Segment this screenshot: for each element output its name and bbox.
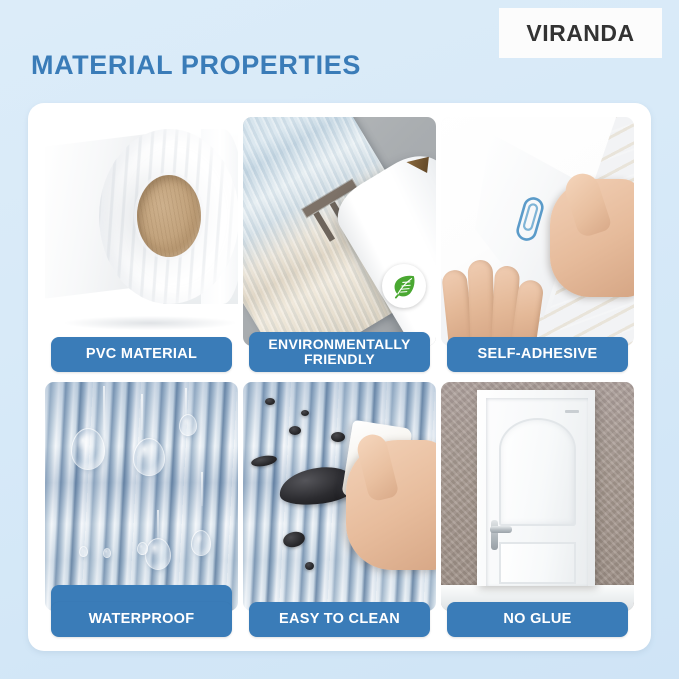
easy-to-clean-image <box>243 382 436 611</box>
stain-2 <box>301 410 309 416</box>
features-grid: PVC MATERIAL <box>45 117 634 637</box>
feature-card-waterproof[interactable]: WATERPROOF <box>45 382 238 637</box>
stain-3 <box>289 426 301 435</box>
no-glue-image <box>441 382 634 611</box>
green-leaf-icon <box>382 264 426 308</box>
page-title: MATERIAL PROPERTIES <box>31 50 361 81</box>
water-streak-2 <box>141 394 143 430</box>
water-drop-1 <box>71 428 105 470</box>
door-handle <box>490 526 512 533</box>
water-streak-1 <box>103 386 105 430</box>
water-drop-4 <box>145 538 171 570</box>
water-drop-5 <box>191 530 211 556</box>
waterproof-label-text: WATERPROOF <box>89 612 195 627</box>
feature-card-self-adhesive[interactable]: SELF-ADHESIVE <box>441 117 634 372</box>
feature-card-environmentally-friendly[interactable]: ENVIRONMENTALLY FRIENDLY <box>243 117 436 372</box>
feature-card-no-glue[interactable]: NO GLUE <box>441 382 634 637</box>
stain-6 <box>305 562 314 570</box>
stain-4 <box>331 432 345 442</box>
left-hand <box>443 240 539 346</box>
stain-1 <box>265 398 275 405</box>
environmentally-friendly-image <box>243 117 436 346</box>
feature-card-pvc-material[interactable]: PVC MATERIAL <box>45 117 238 372</box>
pvc-material-label-text: PVC MATERIAL <box>86 347 197 362</box>
brand-name: VIRANDA <box>526 20 634 47</box>
water-streak-4 <box>201 472 203 506</box>
door-upper-panel <box>499 418 576 526</box>
door-frame <box>477 390 595 586</box>
waterproof-label: WATERPROOF <box>51 602 232 637</box>
environmentally-friendly-label-text: ENVIRONMENTALLY FRIENDLY <box>268 337 410 366</box>
door-lock-plate <box>491 520 498 550</box>
water-drop-6 <box>79 546 88 557</box>
water-streak-5 <box>157 510 159 540</box>
waterproof-image <box>45 382 238 611</box>
easy-to-clean-label: EASY TO CLEAN <box>249 602 430 637</box>
features-panel: PVC MATERIAL <box>28 103 651 651</box>
environmentally-friendly-label: ENVIRONMENTALLY FRIENDLY <box>249 332 430 372</box>
door-lower-panel <box>499 542 576 584</box>
pvc-roll-illustration <box>45 117 238 346</box>
header: MATERIAL PROPERTIES VIRANDA <box>0 0 679 103</box>
door-leaf <box>486 398 588 586</box>
water-drop-3 <box>179 414 197 436</box>
self-adhesive-label-text: SELF-ADHESIVE <box>478 347 598 362</box>
pvc-cardboard-core <box>137 175 201 257</box>
pier-post-left <box>314 211 336 242</box>
water-drop-7 <box>103 548 111 558</box>
door-illustration <box>441 382 634 611</box>
no-glue-label-text: NO GLUE <box>503 612 571 627</box>
self-adhesive-illustration <box>441 117 634 346</box>
self-adhesive-label: SELF-ADHESIVE <box>447 337 628 372</box>
pvc-roll-shadow <box>65 316 235 330</box>
pvc-material-image <box>45 117 238 346</box>
feature-card-easy-to-clean[interactable]: EASY TO CLEAN <box>243 382 436 637</box>
eco-wallpaper-illustration <box>243 117 436 346</box>
no-glue-label: NO GLUE <box>447 602 628 637</box>
easy-to-clean-label-text: EASY TO CLEAN <box>279 612 400 627</box>
door-vent <box>565 410 579 413</box>
water-drop-8 <box>137 542 148 555</box>
self-adhesive-image <box>441 117 634 346</box>
water-drop-2 <box>133 438 165 476</box>
pvc-material-label: PVC MATERIAL <box>51 337 232 372</box>
brand-logo: VIRANDA <box>499 8 662 58</box>
